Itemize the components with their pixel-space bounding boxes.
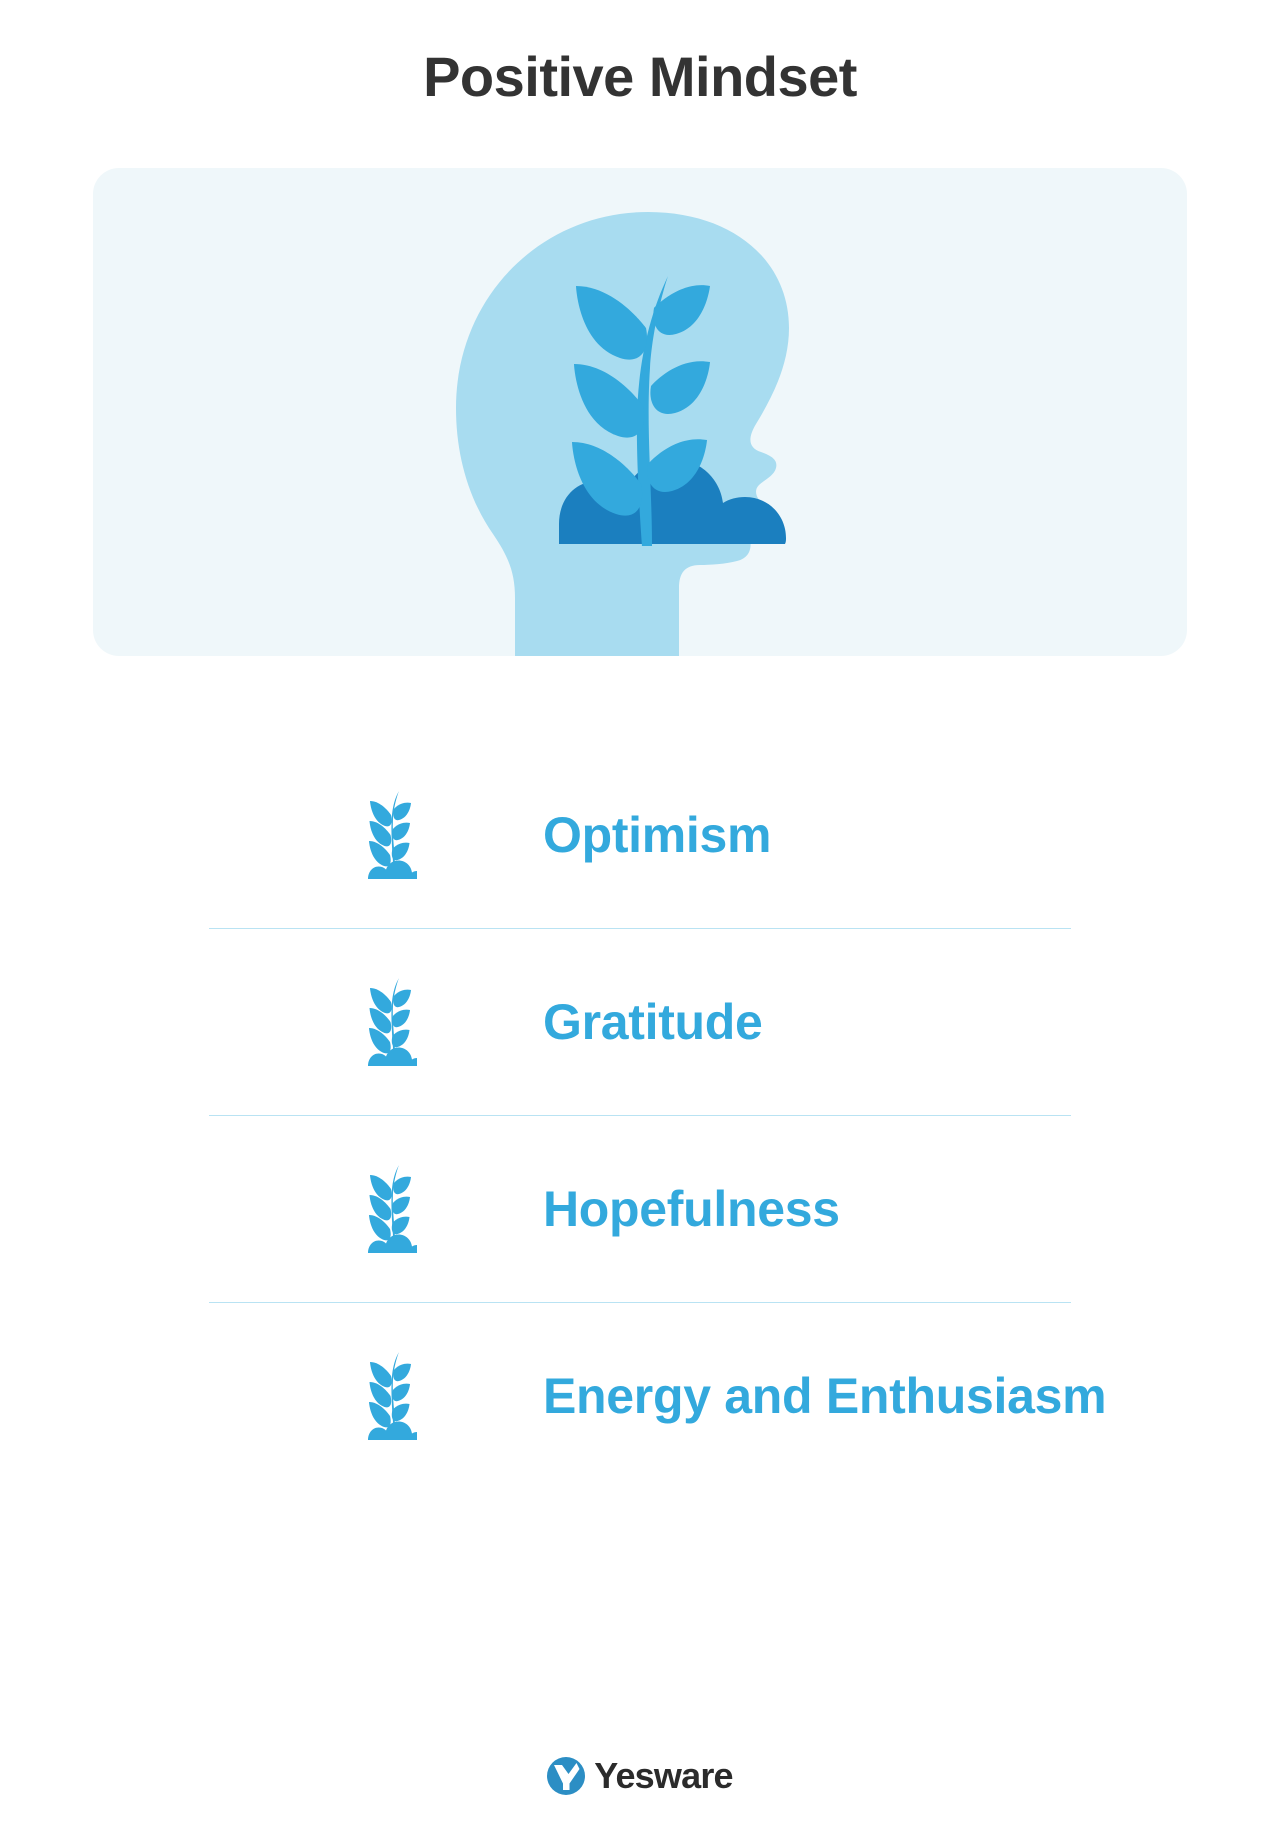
list-item[interactable]: Energy and Enthusiasm bbox=[120, 1303, 1160, 1489]
list-item-label: Optimism bbox=[543, 805, 771, 866]
sprout-icon bbox=[315, 1163, 465, 1255]
footer-brand: Yesware bbox=[547, 1757, 733, 1795]
infographic-page: Positive Mindset bbox=[0, 0, 1280, 1843]
list-item-label: Hopefulness bbox=[543, 1179, 840, 1240]
list-item-label: Gratitude bbox=[543, 992, 763, 1053]
sprout-icon bbox=[315, 976, 465, 1068]
sprout-icon bbox=[315, 1350, 465, 1442]
head-silhouette-with-growing-plant-icon bbox=[380, 168, 900, 656]
list-item-label: Energy and Enthusiasm bbox=[543, 1366, 1106, 1427]
brand-name: Yesware bbox=[594, 1758, 733, 1794]
yesware-logo-icon bbox=[547, 1757, 585, 1795]
sprout-icon bbox=[315, 789, 465, 881]
list-item[interactable]: Hopefulness bbox=[120, 1116, 1160, 1302]
hero-illustration-card bbox=[93, 168, 1187, 656]
list-item[interactable]: Optimism bbox=[120, 742, 1160, 928]
mindset-traits-list: Optimism Gratitude bbox=[120, 742, 1160, 1489]
page-title: Positive Mindset bbox=[423, 48, 857, 107]
list-item[interactable]: Gratitude bbox=[120, 929, 1160, 1115]
